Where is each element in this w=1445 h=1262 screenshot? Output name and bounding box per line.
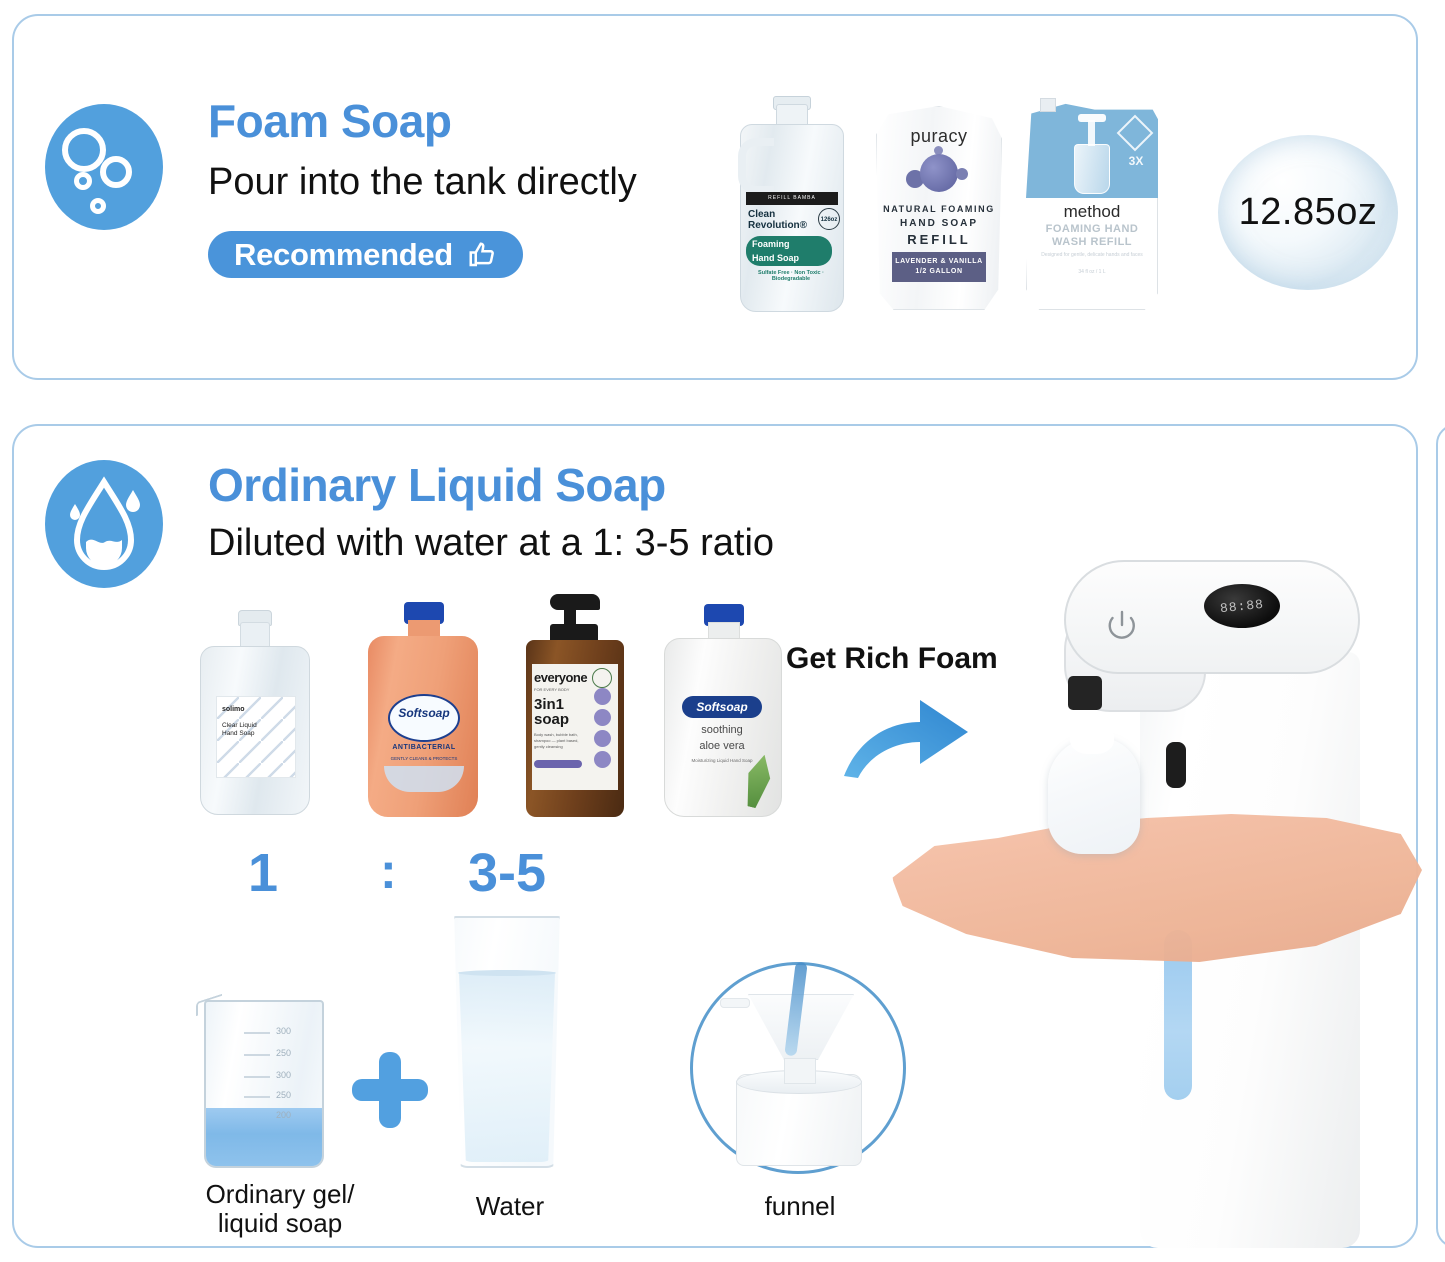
liquid-soap-title: Ordinary Liquid Soap — [208, 462, 666, 508]
measuring-beaker: 300 250 300 250 200 — [196, 990, 332, 1168]
caption-soap-line1: Ordinary gel/ — [150, 1180, 410, 1209]
jug-green-line2: Hand Soap — [746, 250, 832, 264]
thumbs-up-icon — [467, 240, 497, 270]
water-drop-icon — [45, 460, 163, 588]
softsoap-anti-brand: Softsoap — [388, 706, 460, 720]
jug-brand-line1: Clean — [748, 210, 816, 221]
panel-edge-right — [1436, 424, 1445, 1248]
method-line2: WASH REFILL — [1026, 236, 1158, 248]
decorative-dots — [594, 688, 618, 774]
caption-funnel: funnel — [700, 1192, 900, 1221]
foam-dollop — [1048, 738, 1140, 854]
beaker-tick-300b: 300 — [276, 1070, 291, 1080]
jug-green-line1: Foaming — [746, 236, 832, 250]
bubbles-icon — [45, 104, 163, 230]
product-puracy-pouch: puracy NATURAL FOAMING HAND SOAP REFILL … — [876, 92, 1002, 310]
caption-water: Water — [420, 1192, 600, 1221]
method-line4: 34 fl oz / 1 L — [1026, 268, 1158, 276]
beaker-tick-250a: 250 — [276, 1048, 291, 1058]
puracy-line3: REFILL — [876, 232, 1002, 247]
product-method-pouch: 3X method FOAMING HAND WASH REFILL Desig… — [1026, 92, 1158, 308]
softsoap-anti-sub: ANTIBACTERIAL — [388, 744, 460, 751]
beaker-tick-250b: 250 — [276, 1090, 291, 1100]
method-3x-badge: 3X — [1118, 154, 1154, 168]
bottle-softsoap-antibacterial: Softsoap ANTIBACTERIAL GENTLY CLEANS & P… — [364, 602, 482, 817]
ratio-left-value: 1 — [248, 846, 278, 900]
everyone-brand-sub: FOR EVERY BODY — [534, 687, 592, 692]
power-button-icon[interactable] — [1104, 608, 1140, 644]
puracy-brand: puracy — [876, 126, 1002, 147]
ratio-right-value: 3-5 — [468, 846, 546, 900]
liquid-soap-subtitle: Diluted with water at a 1: 3-5 ratio — [208, 524, 774, 564]
method-line1: FOAMING HAND — [1026, 223, 1158, 235]
everyone-brand: everyone — [534, 670, 592, 685]
product-clean-revolution-jug: REFILL BAMBA Clean Revolution® 126oz Foa… — [732, 94, 852, 312]
dispenser-nozzle — [1068, 676, 1102, 710]
beaker-tick-200: 200 — [276, 1110, 291, 1120]
solimo-line1: Clear Liquid — [222, 722, 274, 730]
beaker-tick-300a: 300 — [276, 1026, 291, 1036]
funnel-illustration — [690, 962, 906, 1174]
capacity-bubble: 12.85oz — [1218, 135, 1398, 290]
jug-footer-text: Sulfate Free · Non Toxic · Biodegradable — [748, 270, 834, 282]
softsoap-anti-sub2: GENTLY CLEANS & PROTECTS — [388, 756, 460, 761]
recommended-badge: Recommended — [208, 231, 523, 278]
puracy-size: 1/2 GALLON — [892, 265, 986, 275]
foam-soap-subtitle: Pour into the tank directly — [208, 163, 637, 203]
solimo-brand: solimo — [222, 706, 245, 713]
capacity-value: 12.85oz — [1239, 191, 1378, 234]
leaf-seal-icon — [592, 668, 612, 688]
method-line3: Designed for gentle, delicate hands and … — [1026, 252, 1158, 258]
get-rich-foam-callout: Get Rich Foam — [786, 642, 998, 676]
recommended-label: Recommended — [234, 239, 453, 270]
softsoap-aloe-brand: Softsoap — [682, 696, 762, 718]
everyone-desc: Body wash, bubble bath, shampoo — plant … — [534, 732, 586, 750]
puracy-line2: HAND SOAP — [876, 218, 1002, 229]
jug-top-bar-text: REFILL BAMBA — [746, 192, 838, 205]
caption-soap-line2: liquid soap — [150, 1209, 410, 1238]
curved-arrow-icon — [840, 678, 972, 778]
bottle-softsoap-soothing-aloe-vera: Softsoap soothing aloe vera Moisturizing… — [660, 604, 786, 817]
jug-brand-line2: Revolution® — [748, 221, 816, 232]
sensor-slot — [1166, 742, 1186, 788]
softsoap-aloe-line2: aloe vera — [682, 740, 762, 752]
led-display-value: 88:88 — [1219, 596, 1264, 616]
ratio-separator: : — [380, 846, 397, 896]
bottle-everyone-3in1-soap: everyone FOR EVERY BODY 3in1 soap Body w… — [520, 592, 630, 817]
water-glass — [452, 916, 562, 1168]
bottle-solimo-clear-liquid-hand-soap: solimo Clear Liquid Hand Soap — [196, 610, 314, 815]
foam-soap-title: Foam Soap — [208, 98, 451, 144]
jug-size-badge: 126oz — [818, 208, 840, 230]
softsoap-aloe-line3: Moisturizing Liquid Hand Soap — [682, 758, 762, 763]
plus-icon — [352, 1052, 428, 1128]
caption-ordinary-liquid-soap: Ordinary gel/ liquid soap — [150, 1180, 410, 1238]
everyone-line2: soap — [534, 713, 569, 727]
softsoap-aloe-line1: soothing — [682, 724, 762, 736]
led-display: 88:88 — [1204, 584, 1280, 628]
puracy-line1: NATURAL FOAMING — [876, 204, 1002, 214]
method-brand: method — [1026, 202, 1158, 222]
puracy-variant: LAVENDER & VANILLA — [892, 252, 986, 265]
solimo-line2: Hand Soap — [222, 730, 274, 738]
